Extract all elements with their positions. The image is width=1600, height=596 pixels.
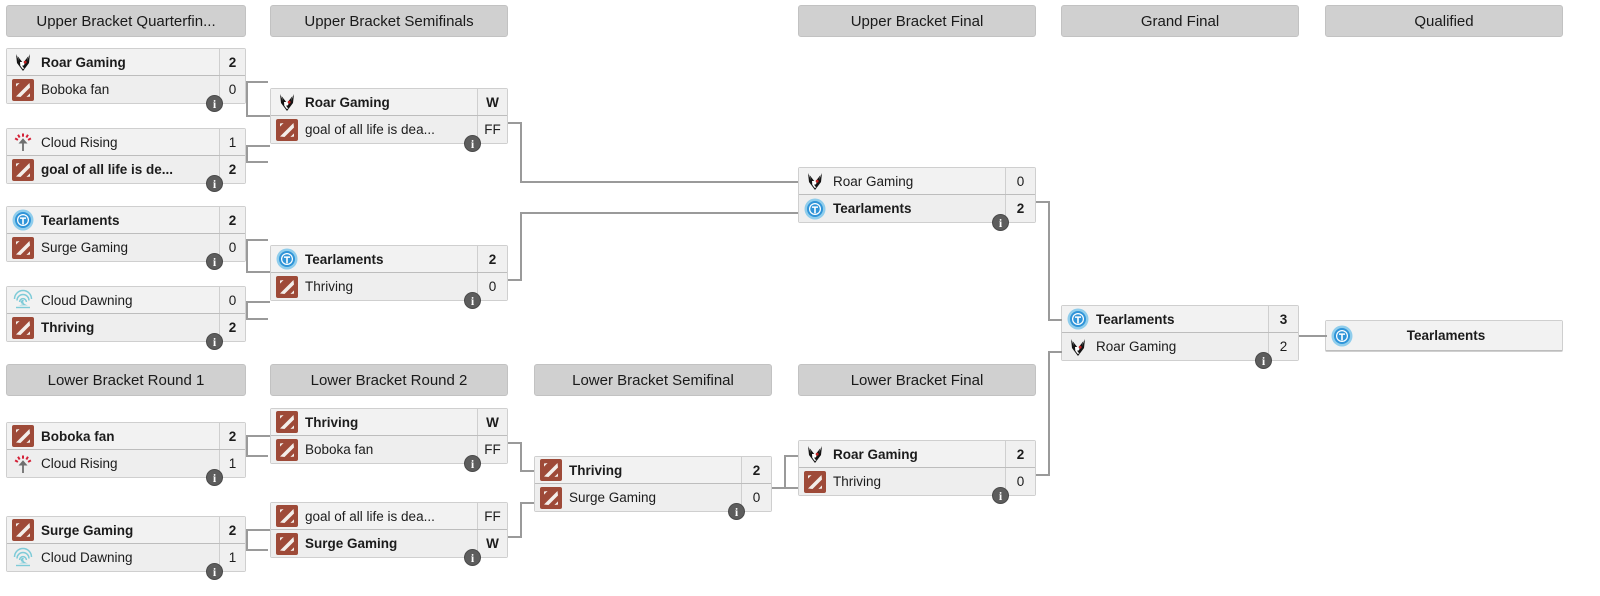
match-info-icon[interactable]: i <box>206 95 223 112</box>
match-lb-r1-2[interactable]: Surge Gaming 2 Cloud Dawning 1 i <box>6 516 246 572</box>
team-name: Surge Gaming <box>41 240 219 255</box>
cloud-rising-logo <box>11 130 35 154</box>
match-info-icon[interactable]: i <box>728 503 745 520</box>
round-header-ub-final[interactable]: Upper Bracket Final <box>798 5 1036 37</box>
info-icon-label: i <box>213 336 216 348</box>
match-grand-final[interactable]: Tearlaments 3 Roar Gaming 2 i <box>1061 305 1299 361</box>
connector <box>246 455 268 457</box>
roar-gaming-logo <box>803 442 827 466</box>
round-header-label: Upper Bracket Quarterfin... <box>36 13 215 30</box>
match-info-icon[interactable]: i <box>464 135 481 152</box>
team-name: Thriving <box>569 463 741 478</box>
team-score: 2 <box>1268 333 1298 360</box>
match-info-icon[interactable]: i <box>1255 352 1272 369</box>
team-name: goal of all life is dea... <box>305 509 477 524</box>
team-name: Roar Gaming <box>305 95 477 110</box>
roar-gaming-logo <box>11 50 35 74</box>
info-icon-label: i <box>1262 355 1265 367</box>
team-score: FF <box>477 116 507 143</box>
connector <box>246 301 248 320</box>
match-ub-qf-2[interactable]: Cloud Rising 1 goal of all life is de...… <box>6 128 246 184</box>
match-info-icon[interactable]: i <box>464 549 481 566</box>
match-qualified[interactable]: Tearlaments <box>1325 320 1563 352</box>
match-row-top[interactable]: Tearlaments 2 <box>7 207 245 234</box>
match-row-top[interactable]: goal of all life is dea... FF <box>271 503 507 530</box>
team-name: Roar Gaming <box>833 174 1005 189</box>
team-name: Thriving <box>41 320 219 335</box>
team-score: 2 <box>219 207 245 233</box>
team-score: 1 <box>219 450 245 477</box>
team-name: goal of all life is dea... <box>305 122 477 137</box>
match-ub-final[interactable]: Roar Gaming 0 Tearlaments 2 i <box>798 167 1036 223</box>
match-row-top[interactable]: Surge Gaming 2 <box>7 517 245 544</box>
roar-gaming-logo <box>1066 335 1090 359</box>
tearlaments-logo <box>1066 307 1090 331</box>
tearlaments-logo <box>803 197 827 221</box>
dota-default-logo <box>539 458 563 482</box>
info-icon-label: i <box>213 98 216 110</box>
team-score: 2 <box>1005 195 1035 222</box>
team-score: 0 <box>477 273 507 300</box>
round-header-ub-semifinals[interactable]: Upper Bracket Semifinals <box>270 5 508 37</box>
team-name: Thriving <box>305 279 477 294</box>
connector <box>246 81 248 117</box>
match-info-icon[interactable]: i <box>206 253 223 270</box>
team-name: Cloud Rising <box>41 135 219 150</box>
team-score: 0 <box>1005 168 1035 194</box>
dota-default-logo <box>11 316 35 340</box>
match-row-top[interactable]: Tearlaments <box>1326 321 1562 351</box>
team-score: 2 <box>219 49 245 75</box>
dota-default-logo <box>11 78 35 102</box>
roar-gaming-logo <box>803 169 827 193</box>
connector <box>246 301 270 303</box>
round-header-label: Grand Final <box>1141 13 1219 30</box>
team-score: 2 <box>477 246 507 272</box>
round-header-label: Lower Bracket Semifinal <box>572 372 734 389</box>
connector <box>246 529 270 531</box>
roar-gaming-logo <box>275 90 299 114</box>
info-icon-label: i <box>999 490 1002 502</box>
connector <box>246 529 248 551</box>
round-header-lb-final[interactable]: Lower Bracket Final <box>798 364 1036 396</box>
team-name: Tearlaments <box>1360 328 1562 343</box>
connector <box>520 122 522 182</box>
round-header-label: Upper Bracket Final <box>851 13 984 30</box>
team-name: Tearlaments <box>833 201 1005 216</box>
match-info-icon[interactable]: i <box>206 469 223 486</box>
team-score: 2 <box>1005 441 1035 467</box>
team-score: 0 <box>219 287 245 313</box>
match-row-top[interactable]: Roar Gaming 2 <box>799 441 1035 468</box>
round-header-label: Lower Bracket Final <box>851 372 984 389</box>
team-score: 0 <box>741 484 771 511</box>
team-score: 3 <box>1268 306 1298 332</box>
dota-default-logo <box>275 504 299 528</box>
match-row-top[interactable]: Roar Gaming 0 <box>799 168 1035 195</box>
connector <box>246 239 268 241</box>
tournament-bracket: Upper Bracket Quarterfin... Upper Bracke… <box>0 0 1600 596</box>
connector <box>246 161 268 163</box>
team-name: Tearlaments <box>41 213 219 228</box>
team-name: Tearlaments <box>1096 312 1268 327</box>
dota-default-logo <box>275 410 299 434</box>
connector <box>784 455 786 488</box>
round-header-ub-quarterfinals[interactable]: Upper Bracket Quarterfin... <box>6 5 246 37</box>
dota-default-logo <box>11 518 35 542</box>
team-score: FF <box>477 503 507 529</box>
team-name: Cloud Dawning <box>41 293 219 308</box>
match-row-top[interactable]: Cloud Rising 1 <box>7 129 245 156</box>
match-row-top[interactable]: Roar Gaming 2 <box>7 49 245 76</box>
connector <box>246 435 248 457</box>
match-info-icon[interactable]: i <box>206 175 223 192</box>
connector <box>520 470 534 472</box>
info-icon-label: i <box>213 178 216 190</box>
dota-default-logo <box>11 158 35 182</box>
team-name: Roar Gaming <box>1096 339 1268 354</box>
info-icon-label: i <box>471 458 474 470</box>
connector <box>246 239 248 272</box>
round-header-label: Lower Bracket Round 1 <box>48 372 205 389</box>
dota-default-logo <box>275 275 299 299</box>
team-name: Boboka fan <box>41 82 219 97</box>
cloud-dawning-logo <box>11 288 35 312</box>
match-lb-r2-1[interactable]: Thriving W Boboka fan FF i <box>270 408 508 464</box>
round-header-label: Upper Bracket Semifinals <box>304 13 473 30</box>
team-score: 0 <box>219 76 245 103</box>
team-name: Thriving <box>833 474 1005 489</box>
team-name: Surge Gaming <box>305 536 477 551</box>
match-info-icon[interactable]: i <box>206 563 223 580</box>
team-score: FF <box>477 436 507 463</box>
team-score: 2 <box>219 314 245 341</box>
connector <box>246 435 270 437</box>
connector <box>1299 335 1327 337</box>
match-ub-qf-3[interactable]: Tearlaments 2 Surge Gaming 0 i <box>6 206 246 262</box>
team-score: 2 <box>219 423 245 449</box>
round-header-label: Lower Bracket Round 2 <box>311 372 468 389</box>
info-icon-label: i <box>471 552 474 564</box>
match-row-top[interactable]: Tearlaments 2 <box>271 246 507 273</box>
info-icon-label: i <box>471 138 474 150</box>
team-name: Boboka fan <box>41 429 219 444</box>
team-name: goal of all life is de... <box>41 162 219 177</box>
info-icon-label: i <box>213 472 216 484</box>
team-score: 2 <box>741 457 771 483</box>
team-score: 2 <box>219 156 245 183</box>
team-name: Roar Gaming <box>41 55 219 70</box>
dota-default-logo <box>803 470 827 494</box>
dota-default-logo <box>275 438 299 462</box>
team-score: 0 <box>219 234 245 261</box>
team-name: Thriving <box>305 415 477 430</box>
tearlaments-logo <box>275 247 299 271</box>
connector <box>1048 201 1050 320</box>
info-icon-label: i <box>735 506 738 518</box>
match-info-icon[interactable]: i <box>992 214 1009 231</box>
team-score: 0 <box>1005 468 1035 495</box>
dota-default-logo <box>275 532 299 556</box>
dota-default-logo <box>11 424 35 448</box>
match-info-icon[interactable]: i <box>206 333 223 350</box>
connector <box>246 318 268 320</box>
round-header-label: Qualified <box>1414 13 1473 30</box>
match-lb-semifinal[interactable]: Thriving 2 Surge Gaming 0 i <box>534 456 772 512</box>
team-score: 2 <box>219 517 245 543</box>
team-name: Boboka fan <box>305 442 477 457</box>
connector <box>520 181 798 183</box>
team-score: 1 <box>219 129 245 155</box>
connector <box>520 502 534 504</box>
match-row-top[interactable]: Thriving 2 <box>535 457 771 484</box>
round-header-qualified[interactable]: Qualified <box>1325 5 1563 37</box>
connector <box>520 442 522 471</box>
info-icon-label: i <box>213 566 216 578</box>
connector <box>1048 351 1062 353</box>
match-row-top[interactable]: Cloud Dawning 0 <box>7 287 245 314</box>
team-name: Surge Gaming <box>569 490 741 505</box>
team-score: W <box>477 530 507 557</box>
match-row-top[interactable]: Boboka fan 2 <box>7 423 245 450</box>
round-header-lb-semifinal[interactable]: Lower Bracket Semifinal <box>534 364 772 396</box>
round-header-lb-round2[interactable]: Lower Bracket Round 2 <box>270 364 508 396</box>
connector <box>784 487 798 489</box>
match-info-icon[interactable]: i <box>992 487 1009 504</box>
team-score: W <box>477 89 507 115</box>
connector <box>246 81 268 83</box>
connector <box>246 145 248 163</box>
team-name: Surge Gaming <box>41 523 219 538</box>
match-info-icon[interactable]: i <box>464 292 481 309</box>
team-name: Tearlaments <box>305 252 477 267</box>
match-lb-r2-2[interactable]: goal of all life is dea... FF Surge Gami… <box>270 502 508 558</box>
team-score: W <box>477 409 507 435</box>
tearlaments-logo <box>11 208 35 232</box>
info-icon-label: i <box>999 217 1002 229</box>
connector <box>520 212 798 214</box>
cloud-rising-logo <box>11 452 35 476</box>
team-name: Cloud Rising <box>41 456 219 471</box>
match-row-top[interactable]: Roar Gaming W <box>271 89 507 116</box>
tearlaments-logo <box>1330 324 1354 348</box>
team-name: Cloud Dawning <box>41 550 219 565</box>
cloud-dawning-logo <box>11 546 35 570</box>
dota-default-logo <box>275 118 299 142</box>
match-ub-sf-1[interactable]: Roar Gaming W goal of all life is dea...… <box>270 88 508 144</box>
team-score: 1 <box>219 544 245 571</box>
match-lb-r1-1[interactable]: Boboka fan 2 Cloud Rising 1 i <box>6 422 246 478</box>
match-row-top[interactable]: Tearlaments 3 <box>1062 306 1298 333</box>
connector <box>784 455 798 457</box>
connector <box>246 271 270 273</box>
round-header-grand-final[interactable]: Grand Final <box>1061 5 1299 37</box>
round-header-lb-round1[interactable]: Lower Bracket Round 1 <box>6 364 246 396</box>
match-info-icon[interactable]: i <box>464 455 481 472</box>
match-row-top[interactable]: Thriving W <box>271 409 507 436</box>
connector <box>246 115 270 117</box>
connector <box>1048 319 1062 321</box>
match-lb-final[interactable]: Roar Gaming 2 Thriving 0 i <box>798 440 1036 496</box>
info-icon-label: i <box>471 295 474 307</box>
match-ub-qf-4[interactable]: Cloud Dawning 0 Thriving 2 i <box>6 286 246 342</box>
connector <box>246 549 268 551</box>
connector <box>246 145 270 147</box>
match-ub-qf-1[interactable]: Roar Gaming 2 Boboka fan 0 i <box>6 48 246 104</box>
dota-default-logo <box>11 236 35 260</box>
connector <box>520 212 522 281</box>
connector <box>520 502 522 538</box>
team-name: Roar Gaming <box>833 447 1005 462</box>
match-ub-sf-2[interactable]: Tearlaments 2 Thriving 0 i <box>270 245 508 301</box>
info-icon-label: i <box>213 256 216 268</box>
connector <box>1048 351 1050 475</box>
dota-default-logo <box>539 486 563 510</box>
